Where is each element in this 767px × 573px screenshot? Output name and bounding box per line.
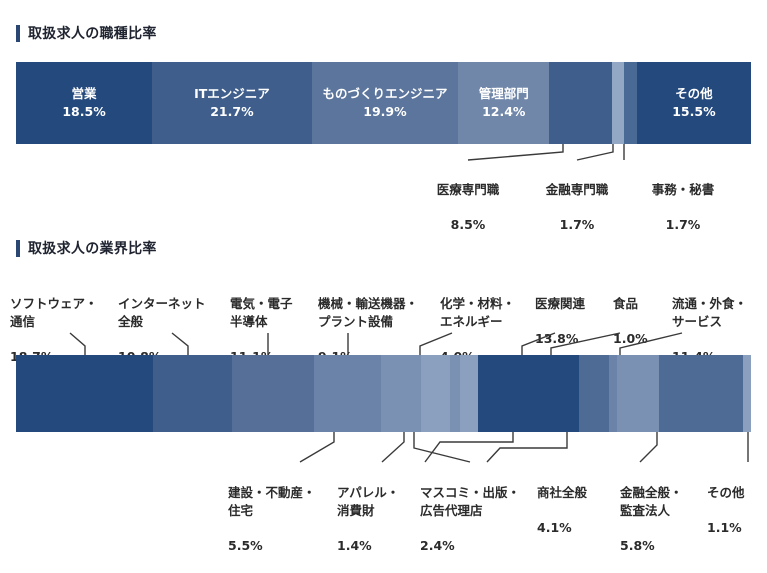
industry-segment: ソフトウェア・通信18.7% xyxy=(16,355,153,432)
segment-value: 15.5% xyxy=(672,103,715,121)
industry-segment: アパレル・消費財1.4% xyxy=(450,355,460,432)
title-accent-bar xyxy=(16,240,20,257)
job-category-stacked-bar: 営業18.5%ITエンジニア21.7%ものづくりエンジニア19.9%管理部門12… xyxy=(16,62,751,144)
industry-segment: 建設・不動産・住宅5.5% xyxy=(381,355,421,432)
callout-value: 1.7% xyxy=(628,216,738,234)
callout-label: 流通・外食・ サービス xyxy=(672,295,767,331)
callout-value: 1.1% xyxy=(707,519,767,537)
segment-label: 営業 xyxy=(72,85,97,103)
industry-segment: 金融全般・監査法人5.8% xyxy=(617,355,660,432)
section-title-job-category: 取扱求人の職種比率 xyxy=(16,23,157,43)
section-title-industry: 取扱求人の業界比率 xyxy=(16,238,157,258)
job-category-segment: ものづくりエンジニア19.9% xyxy=(312,62,458,144)
job-category-segment: 医療専門職8.5% xyxy=(549,62,612,144)
callout-value: 4.1% xyxy=(537,519,622,537)
callout-label: 金融全般・ 監査法人 xyxy=(620,484,720,520)
segment-value: 12.4% xyxy=(482,103,525,121)
callout-medical-specialist: 医療専門職 8.5% xyxy=(413,163,523,252)
callout-value: 2.4% xyxy=(420,537,540,555)
callout-value: 8.5% xyxy=(413,216,523,234)
callout-other-industry: その他 1.1% xyxy=(707,466,767,555)
leader-media-publishing-ad xyxy=(414,432,470,462)
callout-value: 1.7% xyxy=(522,216,632,234)
callout-finance-specialist: 金融専門職 1.7% xyxy=(522,163,632,252)
industry-stacked-bar: ソフトウェア・通信18.7%インターネット全般10.8%電気・電子半導体11.1… xyxy=(16,355,751,432)
callout-label: アパレル・ 消費財 xyxy=(337,484,427,520)
callout-apparel-consumer: アパレル・ 消費財 1.4% xyxy=(337,466,427,573)
industry-segment: 食品1.0% xyxy=(609,355,616,432)
callout-value: 1.0% xyxy=(613,330,673,348)
job-category-segment: 営業18.5% xyxy=(16,62,152,144)
leader-finance-audit xyxy=(487,432,567,462)
industry-segment: マスコミ・出版・広告代理店2.4% xyxy=(460,355,478,432)
callout-label: 金融専門職 xyxy=(522,181,632,199)
segment-value: 19.9% xyxy=(363,103,406,121)
callout-construction-realestate: 建設・不動産・ 住宅 5.5% xyxy=(228,466,338,573)
title-accent-bar xyxy=(16,25,20,42)
segment-label: 管理部門 xyxy=(479,85,529,103)
callout-label: 化学・材料・ エネルギー xyxy=(440,295,540,331)
segment-label: ものづくりエンジニア xyxy=(322,85,447,103)
callout-label: その他 xyxy=(707,484,767,502)
callout-clerical-secretary: 事務・秘書 1.7% xyxy=(628,163,738,252)
segment-label: その他 xyxy=(675,85,713,103)
leader-finance-specialist xyxy=(577,144,613,160)
callout-label: 食品 xyxy=(613,295,673,313)
callout-value: 13.8% xyxy=(535,330,615,348)
leader-construction-realestate xyxy=(300,432,334,462)
section-title-text: 取扱求人の業界比率 xyxy=(28,238,157,258)
leader-apparel-consumer xyxy=(382,432,404,462)
industry-segment: 機械・輸送機器・プラント設備9.1% xyxy=(314,355,381,432)
leader-trading-company xyxy=(425,432,513,462)
callout-label: 事務・秘書 xyxy=(628,181,738,199)
industry-segment: 電気・電子半導体11.1% xyxy=(232,355,313,432)
callout-finance-audit: 金融全般・ 監査法人 5.8% xyxy=(620,466,720,573)
segment-label: ITエンジニア xyxy=(194,85,270,103)
callout-label: ソフトウェア・ 通信 xyxy=(10,295,115,331)
job-category-segment: 金融専門職1.7% xyxy=(612,62,625,144)
job-category-segment: 管理部門12.4% xyxy=(458,62,549,144)
callout-value: 1.4% xyxy=(337,537,427,555)
industry-segment: その他1.1% xyxy=(743,355,751,432)
callout-label: 医療専門職 xyxy=(413,181,523,199)
callout-medical-related: 医療関連 13.8% xyxy=(535,277,615,366)
leader-medical-specialist xyxy=(468,144,563,160)
infographic-page: 取扱求人の職種比率 営業18.5%ITエンジニア21.7%ものづくりエンジニア1… xyxy=(0,0,767,555)
segment-value: 18.5% xyxy=(62,103,105,121)
callout-value: 5.5% xyxy=(228,537,338,555)
job-category-segment: その他15.5% xyxy=(637,62,751,144)
job-category-segment: ITエンジニア21.7% xyxy=(152,62,312,144)
job-category-segment: 事務・秘書1.7% xyxy=(624,62,637,144)
callout-label: インターネット 全般 xyxy=(118,295,228,331)
industry-segment: 商社全般4.1% xyxy=(579,355,609,432)
section-title-text: 取扱求人の職種比率 xyxy=(28,23,157,43)
industry-segment: 流通・外食・サービス11.4% xyxy=(659,355,743,432)
callout-media-publishing-ad: マスコミ・出版・ 広告代理店 2.4% xyxy=(420,466,540,573)
industry-segment: 医療関連13.8% xyxy=(478,355,579,432)
callout-label: 医療関連 xyxy=(535,295,615,313)
industry-segment: 化学・材料・エネルギー4.0% xyxy=(421,355,450,432)
leader-other-industry xyxy=(640,432,657,462)
callout-label: 電気・電子 半導体 xyxy=(230,295,325,331)
callout-value: 5.8% xyxy=(620,537,720,555)
callout-label: 機械・輸送機器・ プラント設備 xyxy=(318,295,436,331)
industry-segment: インターネット全般10.8% xyxy=(153,355,232,432)
callout-label: 商社全般 xyxy=(537,484,622,502)
callout-trading-company: 商社全般 4.1% xyxy=(537,466,622,555)
callout-food: 食品 1.0% xyxy=(613,277,673,366)
segment-value: 21.7% xyxy=(210,103,253,121)
callout-label: マスコミ・出版・ 広告代理店 xyxy=(420,484,540,520)
callout-label: 建設・不動産・ 住宅 xyxy=(228,484,338,520)
